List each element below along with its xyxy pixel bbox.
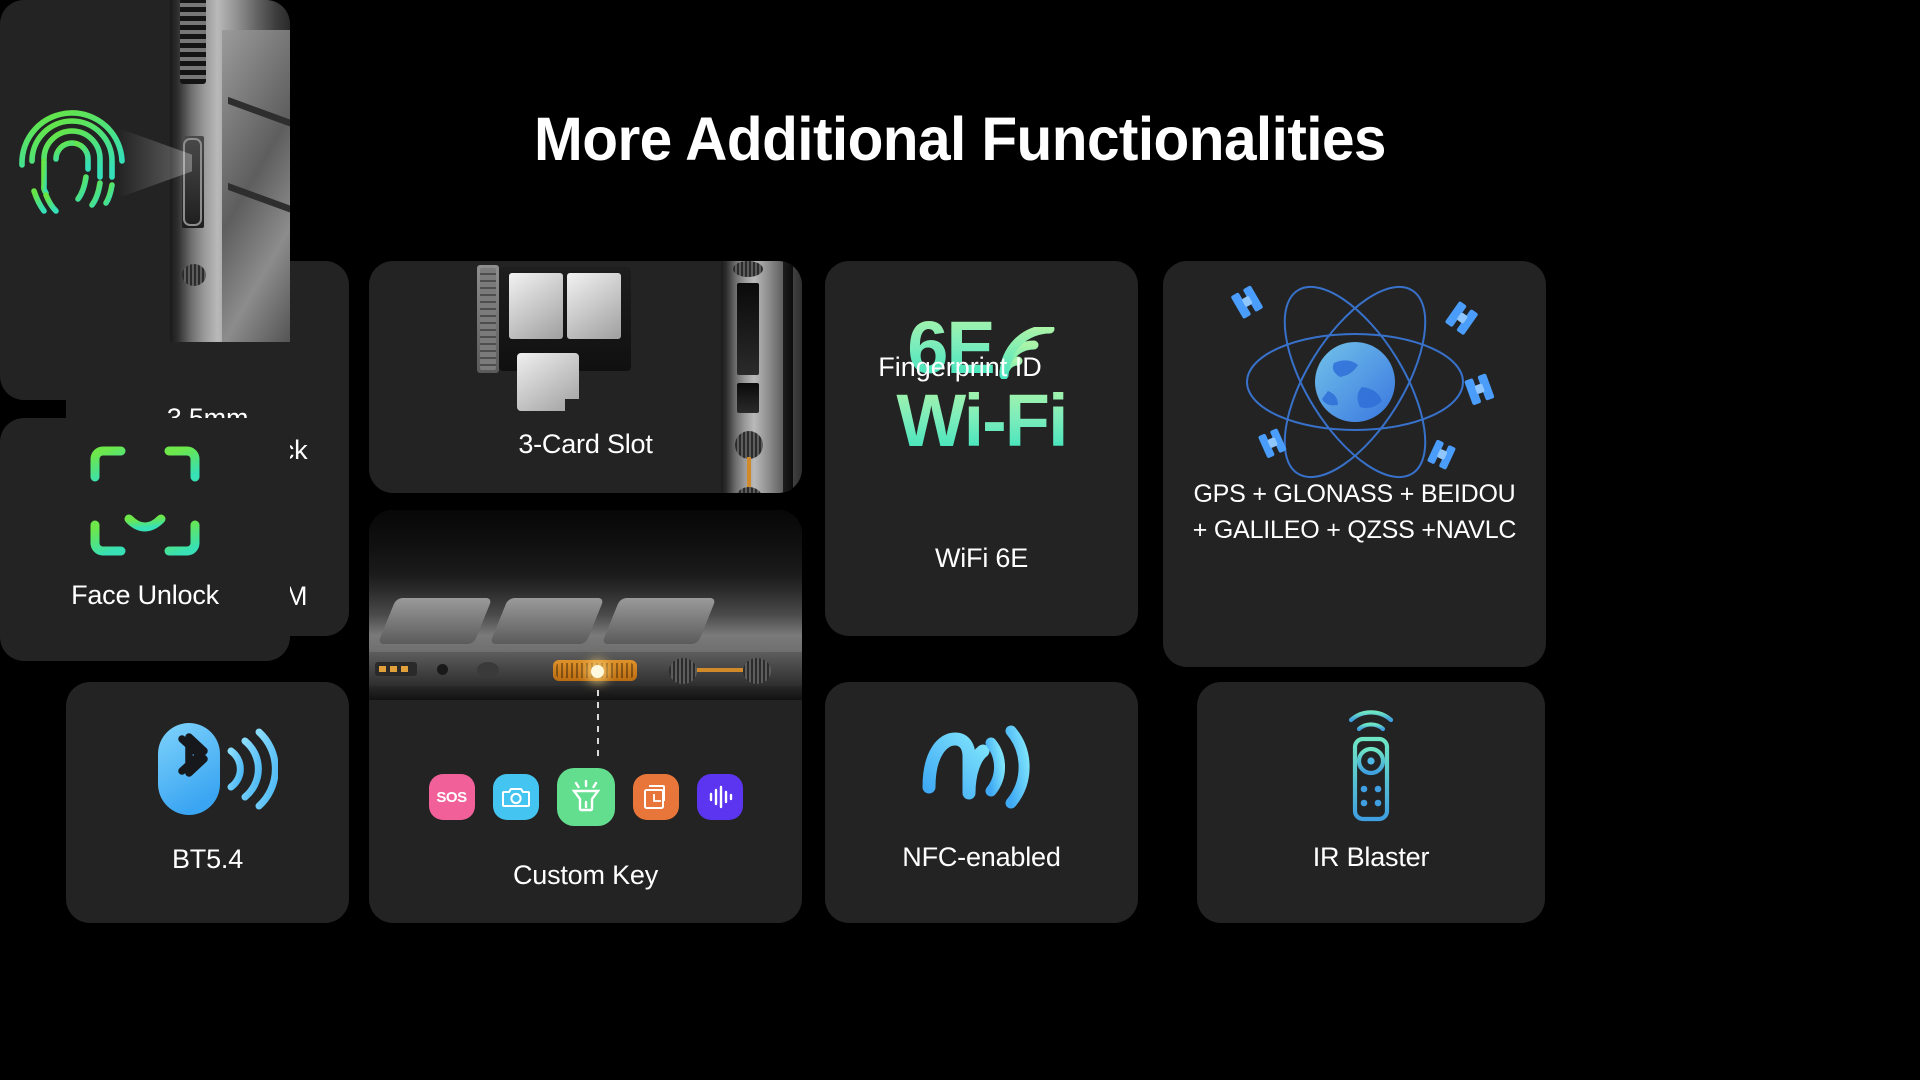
feature-grid: 3.5mm Headphone Jack [0,0,1920,1080]
sim-tray-photo [369,261,721,441]
gps-label-line2: + GALILEO + QZSS +NAVLC [1163,515,1546,547]
sos-icon[interactable]: SOS [429,774,475,820]
ir-label: IR Blaster [1197,840,1545,874]
bluetooth-card[interactable]: BT5.4 [66,682,349,923]
custom-key-shortcuts: SOS [369,768,802,826]
nfc-label: NFC-enabled [825,840,1138,874]
custom-key-label: Custom Key [369,858,802,892]
nfc-card[interactable]: NFC-enabled [825,682,1138,923]
ir-blaster-card[interactable]: IR Blaster [1197,682,1545,923]
biometrics-column: Fingerprint ID [0,0,290,661]
flashlight-icon[interactable] [557,768,615,826]
key-pointer-line [597,690,599,758]
wifi-logo-wifi: Wi-Fi [825,385,1138,458]
card-slot-label: 3-Card Slot [369,427,802,461]
gps-label-line1: GPS + GLONASS + BEIDOU [1163,479,1546,511]
fingerprint-label: Fingerprint ID [0,352,1920,383]
ir-remote-icon [1197,708,1545,824]
bluetooth-label: BT5.4 [66,842,349,876]
screenshot-icon[interactable] [633,774,679,820]
wifi-label: WiFi 6E [825,541,1138,575]
recorder-icon[interactable] [697,774,743,820]
gps-card[interactable]: GPS + GLONASS + BEIDOU + GALILEO + QZSS … [1163,261,1546,667]
face-id-icon [0,444,290,558]
fingerprint-card[interactable] [0,0,290,400]
face-unlock-label: Face Unlock [0,578,290,612]
bluetooth-icon [66,714,349,824]
face-unlock-card[interactable]: Face Unlock [0,418,290,661]
nfc-icon [825,710,1138,820]
phone-side-key-photo [369,510,802,700]
wifi-6e-card[interactable]: 6E Wi-Fi [825,261,1138,636]
poster-root: More Additional Functionalities [0,0,1920,1080]
custom-key-card[interactable]: SOS [369,510,802,923]
camera-icon[interactable] [493,774,539,820]
sos-icon-text: SOS [436,789,466,806]
fingerprint-icon [12,108,132,220]
